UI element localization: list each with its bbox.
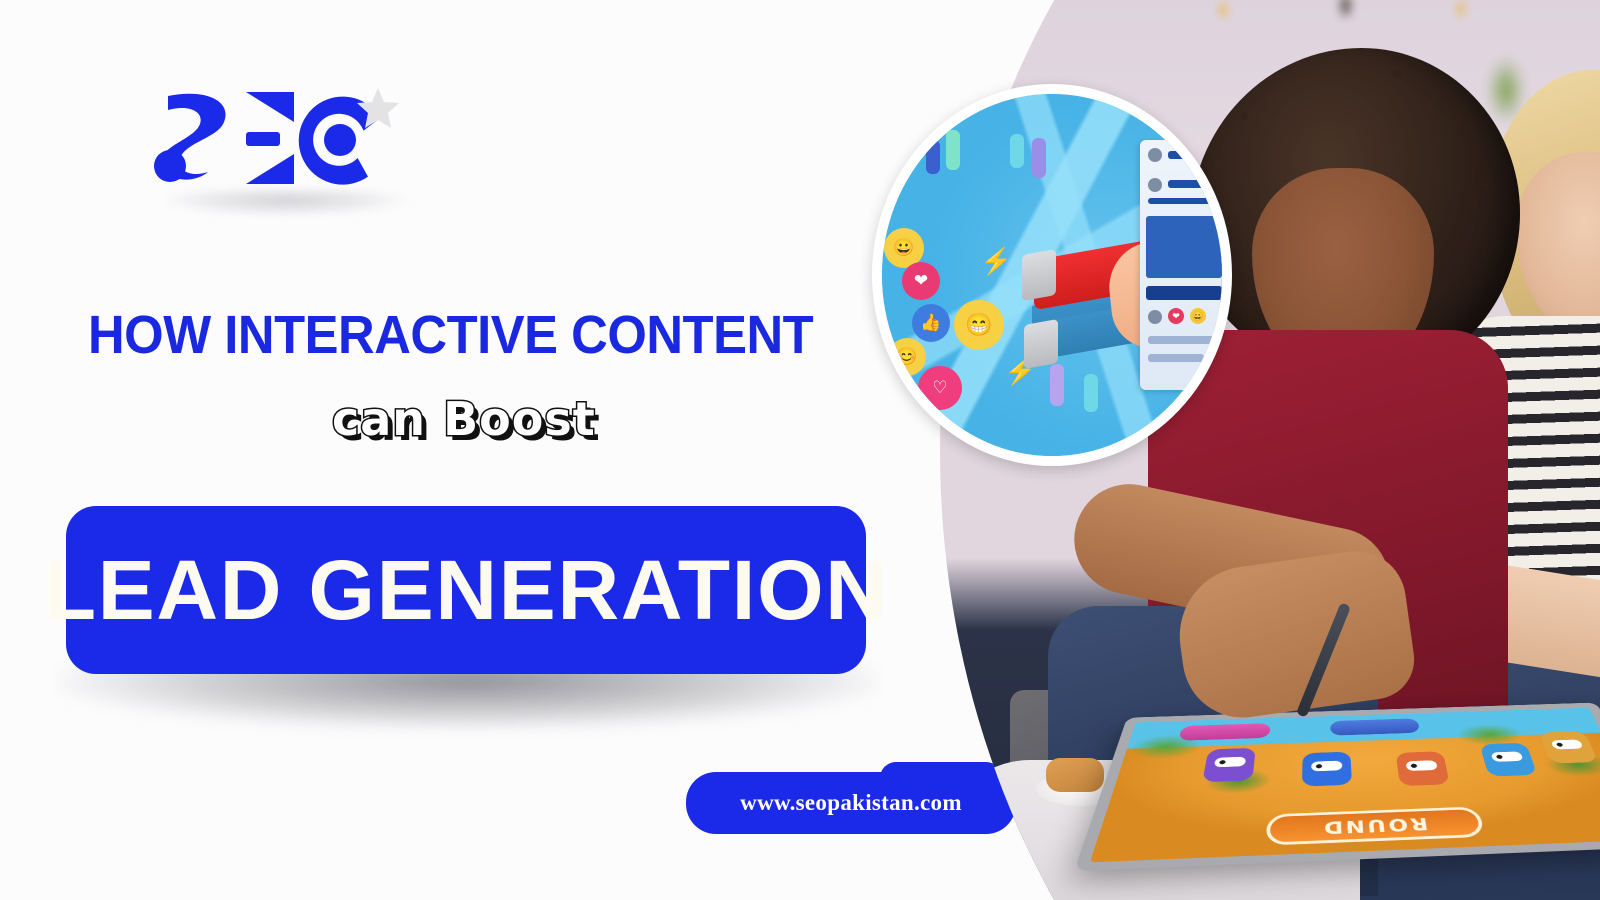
inset-person [946,130,960,170]
emoji-heart-icon: ❤ [1168,308,1184,324]
emoji-smile-icon: 😊 [888,338,926,376]
card-bar [1168,151,1214,159]
card-bar [1146,286,1222,300]
inset-person [1050,364,1064,406]
tablet-screen[interactable]: ROUND [1090,708,1600,863]
lead-generation-banner[interactable]: LEAD GENERATION [66,506,866,674]
social-media-card: ❤ 😀 [1140,140,1226,390]
inset-person [1032,138,1046,178]
card-video-block [1146,216,1222,278]
inset-person [926,140,940,174]
brand-logo[interactable] [150,80,420,200]
emoji-thumbsup-icon: 👍 [912,304,950,342]
card-bar [1148,354,1204,362]
website-pill[interactable]: www.seopakistan.com [686,772,1016,834]
cta-label: LEAD GENERATION [44,542,889,639]
game-round-button[interactable]: ROUND [1265,806,1485,845]
magnet-illustration-inset: 😀 ❤ 👍 😁 😊 ♡ ⚡ ⚡ ❤ 😀 [872,84,1232,466]
magnet-tip-upper [1022,249,1056,301]
emoji-heart-icon: ❤ [902,262,940,300]
game-character [1302,752,1352,787]
poster-canvas: HOW INTERACTIVE CONTENT can Boost LEAD G… [0,0,1600,900]
avatar [1148,310,1162,324]
logo-dot-icon [154,150,186,182]
avatar [1148,178,1162,192]
emoji-heart-outline-icon: ♡ [918,366,962,410]
card-bar [1148,198,1218,204]
game-character [1202,748,1256,782]
tablet-device[interactable]: ROUND [1074,703,1600,871]
snack-food [1046,758,1104,792]
avatar [1148,148,1162,162]
website-url-label: www.seopakistan.com [740,790,962,816]
left-content-panel: HOW INTERACTIVE CONTENT can Boost LEAD G… [0,0,980,900]
card-bar [1168,180,1218,188]
game-badge-score [1330,718,1420,735]
page-title: HOW INTERACTIVE CONTENT [88,307,760,364]
emoji-smile-icon: 😀 [1190,308,1206,324]
card-bar [1148,336,1216,344]
seo-logo-icon [150,80,420,200]
lightning-bolt-icon: ⚡ [980,246,1012,277]
emoji-laugh-icon: 😁 [954,300,1004,350]
page-subtitle: can Boost [332,392,596,446]
magnet-tip-lower [1024,319,1058,369]
game-character [1396,751,1450,786]
inset-person [1084,374,1098,412]
inset-person [1010,134,1024,168]
